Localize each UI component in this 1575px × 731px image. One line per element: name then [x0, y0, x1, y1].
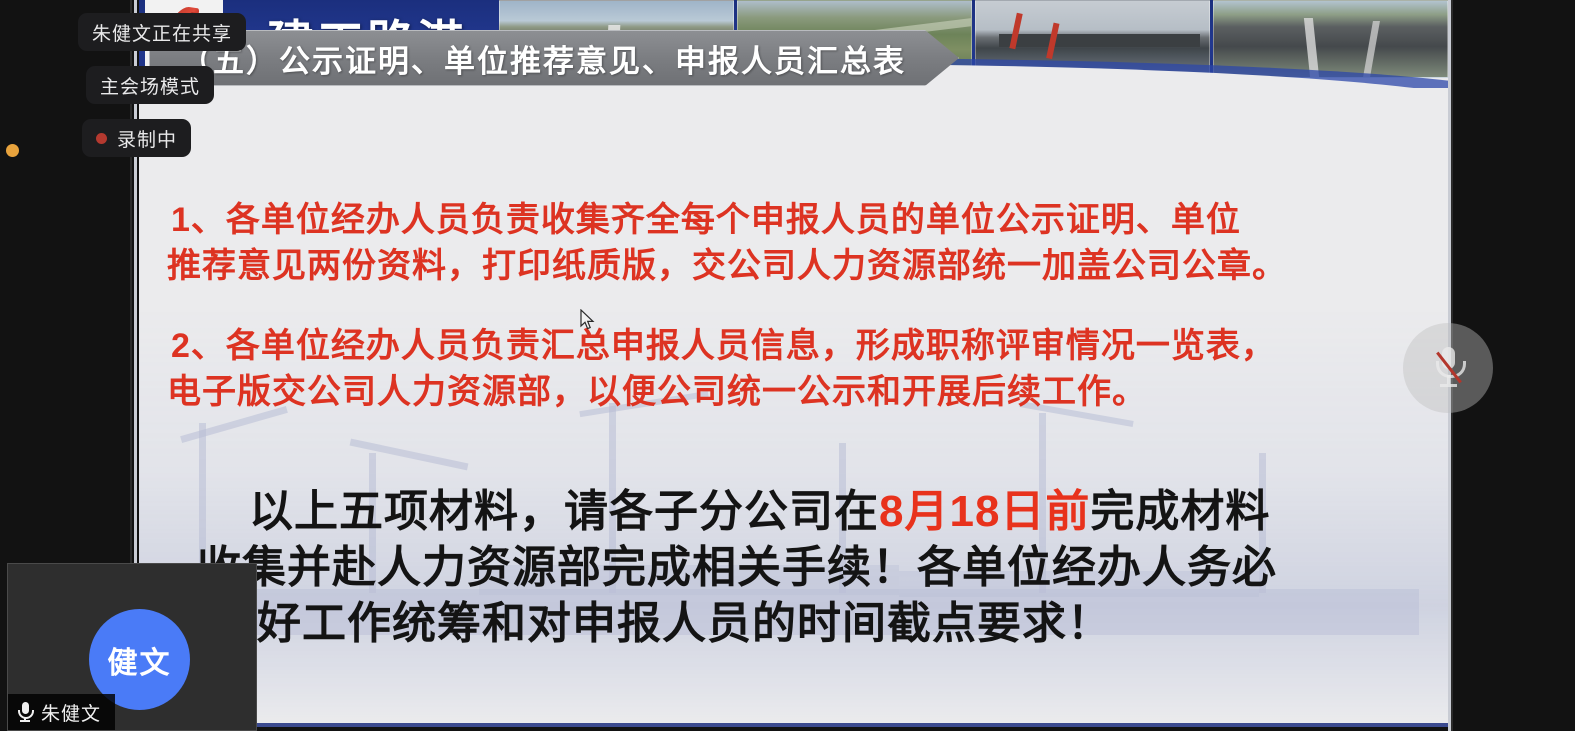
paragraph-1-line-1: 1、各单位经办人员负责收集齐全每个申报人员的单位公示证明、单位	[171, 198, 1241, 243]
paragraph-2-line-2: 电子版交公司人力资源部，以便公司统一公示和开展后续工作。	[167, 370, 1147, 415]
section-title-banner: （五）公示证明、单位推荐意见、申报人员汇总表	[149, 30, 959, 86]
main-venue-mode-label: 主会场模式	[100, 72, 200, 99]
section-title-text: （五）公示证明、单位推荐意见、申报人员汇总表	[150, 36, 906, 81]
deadline-highlight: 8月18日前	[879, 487, 1090, 536]
paragraph-2-line-1: 2、各单位经办人员负责汇总申报人员信息，形成职称评审情况一览表，	[171, 324, 1276, 369]
microphone-icon	[18, 702, 32, 722]
conclusion-line-1-after: 完成材料	[1090, 487, 1270, 536]
status-dot	[6, 144, 19, 157]
conclusion-line-3: 好工作统筹和对申报人员的时间截点要求！	[257, 596, 1112, 652]
conclusion-line-1-before: 以上五项材料，请各子分公司在	[249, 487, 879, 536]
sharing-status-label: 朱健文正在共享	[92, 19, 232, 46]
sharing-status-badge[interactable]: 朱健文正在共享	[78, 13, 246, 51]
recording-badge[interactable]: 录制中	[82, 119, 191, 157]
conclusion-line-2: 收集并赴人力资源部完成相关手续！各单位经办人务必	[197, 540, 1277, 596]
slide-body: 1、各单位经办人员负责收集齐全每个申报人员的单位公示证明、单位 推荐意见两份资料…	[139, 96, 1448, 716]
main-venue-mode-badge[interactable]: 主会场模式	[86, 66, 214, 104]
conclusion-line-1: 以上五项材料，请各子分公司在8月18日前完成材料	[249, 484, 1270, 540]
record-dot-icon	[96, 133, 107, 144]
paragraph-1-line-2: 推荐意见两份资料，打印纸质版，交公司人力资源部统一加盖公司公章。	[167, 244, 1287, 289]
meeting-screen: 建工路港 （五）公示证明、单位推荐意见、申报人员汇总表 1、各单位经办人员负责收…	[0, 0, 1575, 731]
shared-slide: 建工路港 （五）公示证明、单位推荐意见、申报人员汇总表 1、各单位经办人员负责收…	[139, 0, 1448, 723]
microphone-muted-icon[interactable]	[1403, 323, 1493, 413]
recording-label: 录制中	[117, 125, 177, 152]
participant-name-bar: 朱健文	[8, 694, 115, 730]
mouse-cursor-icon	[580, 309, 596, 331]
participant-name: 朱健文	[41, 699, 101, 726]
participant-tile[interactable]: 健文 朱健文	[7, 563, 257, 731]
slide-edge-bottom	[139, 723, 1448, 727]
